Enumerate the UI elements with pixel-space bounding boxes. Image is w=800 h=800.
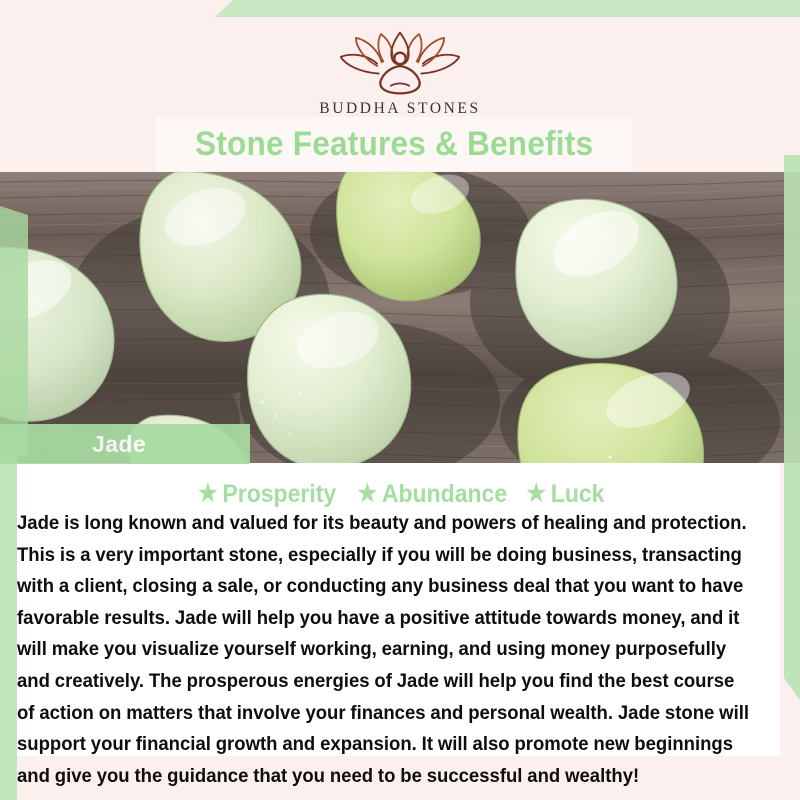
title-banner: Stone Features & Benefits (156, 117, 632, 171)
keyword-label: Prosperity (223, 480, 337, 509)
lotus-meditation-icon (324, 28, 476, 94)
keyword-label: Abundance (382, 480, 507, 509)
page-title: Stone Features & Benefits (195, 125, 593, 164)
decorative-green-shape-top-right (215, 0, 800, 17)
stone-name-label: Jade (92, 431, 146, 458)
stone-name-badge: Jade (0, 424, 250, 464)
benefit-keywords-row: ★ Prosperity ★ Abundance ★ Luck (0, 478, 800, 510)
infographic-page: BUDDHA STONES Stone Features & Benefits (0, 0, 800, 800)
star-icon: ★ (198, 482, 218, 506)
keyword-abundance: ★ Abundance (358, 480, 508, 509)
decorative-green-bar-right (784, 155, 800, 700)
decorative-green-bar-left (0, 206, 28, 456)
keyword-prosperity: ★ Prosperity (198, 480, 336, 509)
star-icon: ★ (358, 482, 378, 506)
keyword-label: Luck (551, 480, 605, 509)
jade-stones-photo (0, 172, 800, 463)
keyword-luck: ★ Luck (526, 480, 604, 509)
stone-description-text: Jade is long known and valued for its be… (17, 508, 752, 792)
brand-name: BUDDHA STONES (319, 100, 480, 118)
star-icon: ★ (526, 482, 546, 506)
